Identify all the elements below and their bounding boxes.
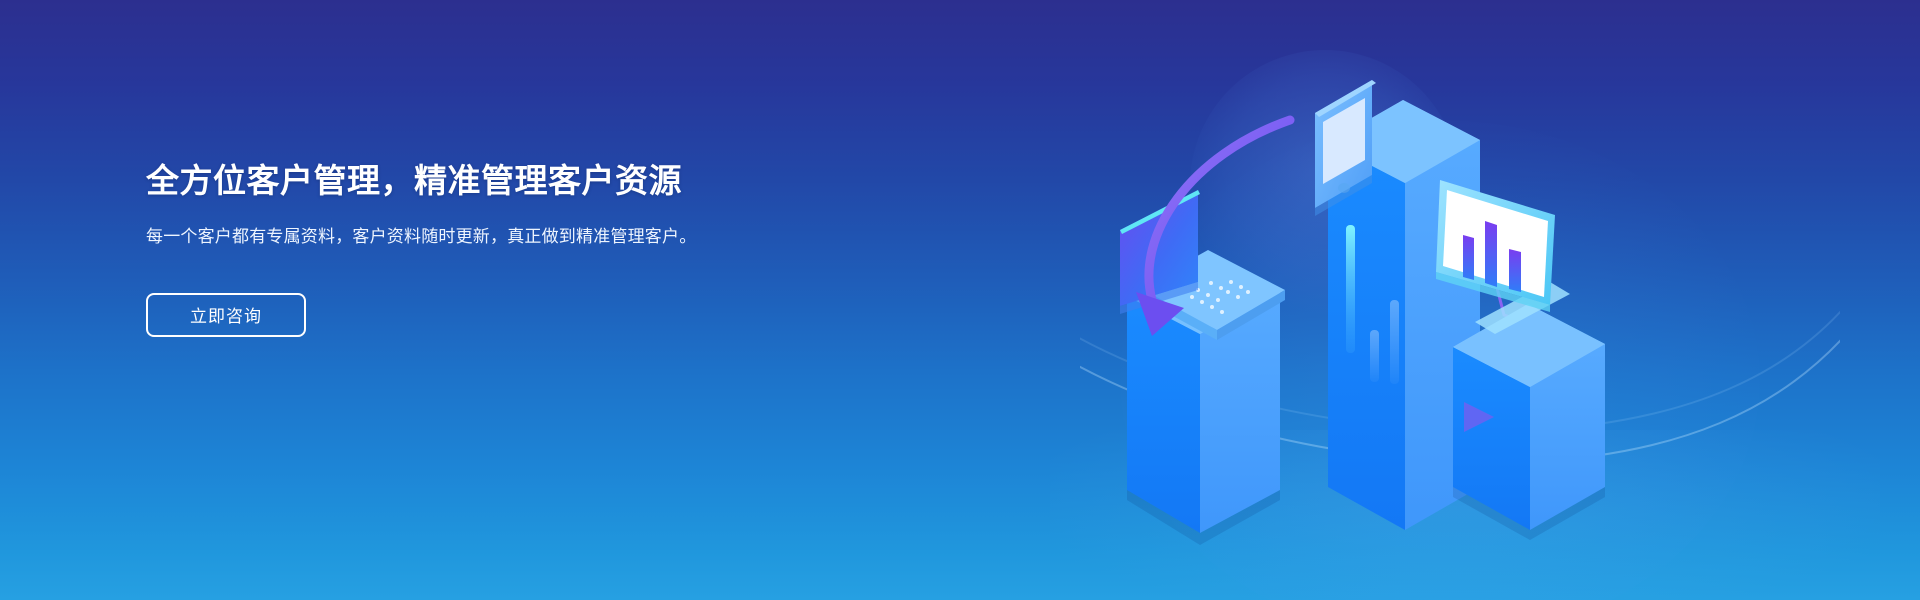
- hero-illustration: [1080, 0, 1840, 600]
- page-title: 全方位客户管理，精准管理客户资源: [146, 160, 766, 202]
- hero-banner: 全方位客户管理，精准管理客户资源 每一个客户都有专属资料，客户资料随时更新，真正…: [0, 0, 1920, 600]
- hero-subtitle: 每一个客户都有专属资料，客户资料随时更新，真正做到精准管理客户。: [146, 224, 731, 250]
- consult-now-button[interactable]: 立即咨询: [146, 293, 306, 337]
- hero-copy: 全方位客户管理，精准管理客户资源 每一个客户都有专属资料，客户资料随时更新，真正…: [146, 160, 766, 337]
